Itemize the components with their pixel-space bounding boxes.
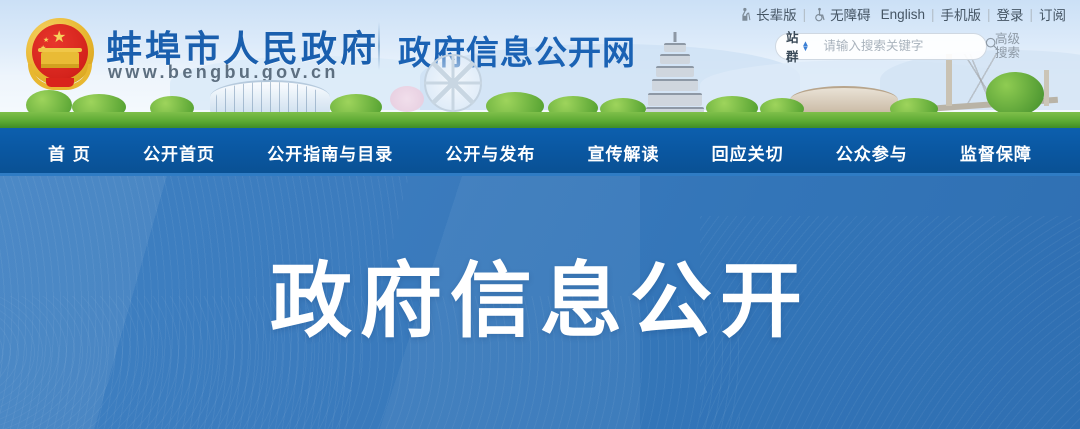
- nav-item-participation[interactable]: 公众参与: [836, 140, 908, 165]
- mobile-version-link[interactable]: 手机版: [940, 4, 981, 24]
- separator: |: [1029, 7, 1033, 22]
- pagoda-icon: [646, 38, 704, 116]
- city-skyline-illustration: [0, 82, 1080, 128]
- elderly-version-link[interactable]: 长辈版: [738, 4, 797, 24]
- english-link[interactable]: English: [881, 7, 925, 22]
- nav-item-supervision[interactable]: 监督保障: [960, 140, 1032, 165]
- main-navigation: 首 页 公开首页 公开指南与目录 公开与发布 宣传解读 回应关切 公众参与 监督…: [0, 128, 1080, 176]
- china-national-emblem-icon: ★ ★ ★ ★ ★: [24, 16, 96, 92]
- page-root: ★ ★ ★ ★ ★ 蚌埠市人民政府 www.bengbu.gov.cn 政府信息…: [0, 0, 1080, 429]
- ferris-wheel-spokes-icon: [424, 54, 482, 112]
- elderly-version-label: 长辈版: [756, 4, 797, 24]
- nav-item-disclosure-release[interactable]: 公开与发布: [445, 140, 535, 165]
- bridge-tower-icon: [946, 54, 952, 106]
- advanced-search-line2: 搜索: [995, 46, 1020, 60]
- nav-item-response[interactable]: 回应关切: [712, 140, 784, 165]
- site-header: ★ ★ ★ ★ ★ 蚌埠市人民政府 www.bengbu.gov.cn 政府信息…: [0, 0, 1080, 128]
- search-scope-label: 站群: [786, 27, 799, 65]
- hero-banner: 政府信息公开: [0, 176, 1080, 429]
- nav-item-guide-catalog[interactable]: 公开指南与目录: [267, 140, 393, 165]
- green-ground-strip: [0, 112, 1080, 128]
- banner-title: 政府信息公开: [0, 234, 1080, 353]
- title-divider: [378, 22, 380, 70]
- elderly-person-icon: [738, 7, 753, 22]
- wheelchair-icon: [812, 7, 827, 22]
- search-box[interactable]: 站群 ▲▼: [775, 33, 987, 60]
- nav-item-home[interactable]: 首 页: [48, 140, 91, 165]
- search-area: 站群 ▲▼ 高级 搜索: [775, 32, 1020, 60]
- login-link[interactable]: 登录: [996, 4, 1023, 24]
- advanced-search-line1: 高级: [995, 32, 1020, 46]
- spinner-up-down-icon: ▲▼: [802, 41, 810, 51]
- nav-item-interpretation[interactable]: 宣传解读: [587, 140, 659, 165]
- separator: |: [987, 7, 991, 22]
- utility-bar: 长辈版 | 无障碍 English | 手机版 | 登录 | 订阅: [738, 4, 1066, 24]
- advanced-search-link[interactable]: 高级 搜索: [995, 32, 1020, 60]
- tree-icon: [986, 72, 1044, 116]
- search-scope-select[interactable]: 站群 ▲▼: [786, 27, 809, 65]
- accessibility-label: 无障碍: [830, 4, 871, 24]
- separator: |: [803, 7, 807, 22]
- bridge-tower-icon: [1044, 70, 1049, 106]
- nav-item-open-home[interactable]: 公开首页: [143, 140, 215, 165]
- accessibility-link[interactable]: 无障碍: [812, 4, 871, 24]
- search-input[interactable]: [823, 39, 984, 53]
- blossom-tree-icon: [390, 86, 424, 112]
- stadium-mesh-icon: [216, 82, 322, 112]
- modern-arena-icon: [790, 86, 898, 114]
- subscribe-link[interactable]: 订阅: [1039, 4, 1066, 24]
- separator: |: [931, 7, 935, 22]
- gov-url: www.bengbu.gov.cn: [108, 62, 339, 83]
